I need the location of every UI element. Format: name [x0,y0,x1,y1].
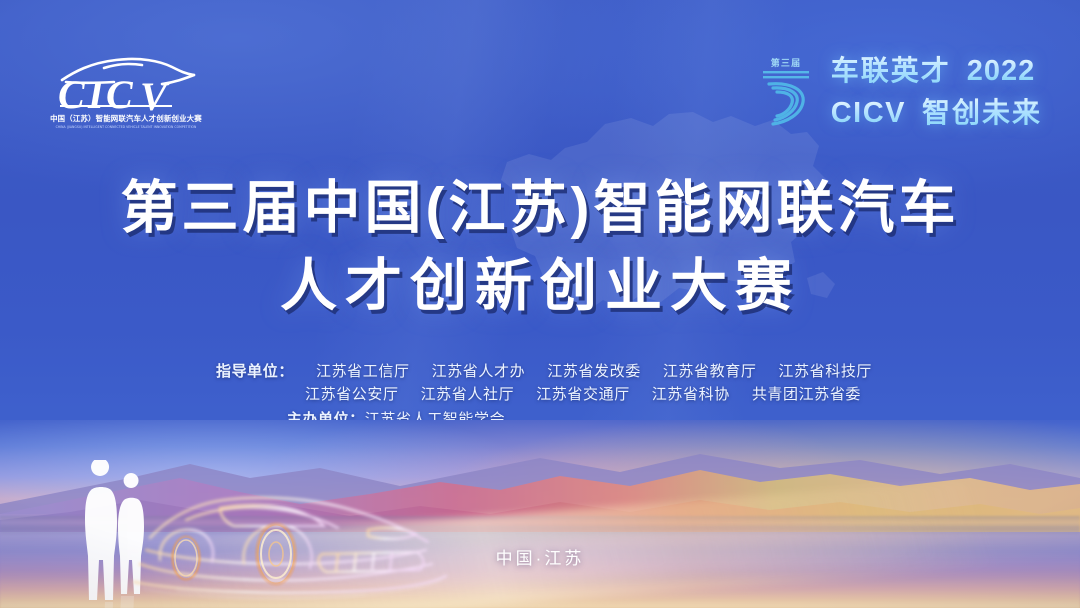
logo-subtitle-en: CHINA (JIANGSU) INTELLIGENT CONNECTED VE… [56,125,197,129]
logo-subtitle-cn: 中国（江苏）智能网联汽车人才创新创业大赛 [50,114,202,123]
svg-text:中国（江苏）智能网联汽车人才创新创业大赛: 中国（江苏）智能网联汽车人才创新创业大赛 [50,114,202,123]
guidance-unit: 江苏省交通厅 [536,383,630,406]
badge-row-2: CICV 智创未来 [831,91,1042,131]
svg-text:V: V [140,74,170,119]
guidance-unit: 江苏省工信厅 [316,360,410,383]
svg-text:C: C [106,72,136,117]
adult-silhouette [85,460,117,600]
guidance-label: 指导单位： [216,363,294,380]
badge-numeral-mark: 第三届 [755,50,817,130]
neon-car-outline [116,472,456,604]
event-badge: 第三届 车联英才 2022 CICV 智创未来 [755,48,1042,132]
guidance-row-2: 江苏省公安厅江苏省人社厅江苏省交通厅江苏省科协共青团江苏省委 [0,383,1080,406]
location-label: 中国·江苏 [0,544,1080,569]
guidance-unit: 江苏省人社厅 [421,383,515,406]
sunset-landscape [0,420,1080,608]
guidance-unit: 江苏省人才办 [432,360,526,383]
guidance-unit: 共青团江苏省委 [752,383,861,406]
guidance-unit: 江苏省公安厅 [305,383,399,406]
badge-row-1: 车联英才 2022 [831,49,1042,89]
page-title: 第三届中国(江苏)智能网联汽车 人才创新创业大赛 [0,176,1080,319]
logo-wordmark: C I C V [58,72,170,119]
guidance-row-1: 指导单位：江苏省工信厅江苏省人才办江苏省发改委江苏省教育厅江苏省科技厅 [0,360,1080,383]
guidance-unit: 江苏省科技厅 [778,360,872,383]
badge-text-block: 车联英才 2022 CICV 智创未来 [831,49,1042,131]
guidance-unit: 江苏省科协 [652,383,730,406]
guidance-unit: 江苏省发改委 [547,360,641,383]
badge-edition-glyph: 第三届 [770,57,801,69]
badge-year: 2022 [967,55,1036,88]
badge-line2-cn: 智创未来 [922,91,1042,131]
badge-line1-cn: 车联英才 [831,49,951,89]
poster-canvas: C I C V 中国（江苏）智能网联汽车人才创新创业大赛 CHINA (JIAN… [0,0,1080,608]
title-line-2: 人才创新创业大赛 [0,254,1080,320]
guidance-unit: 江苏省教育厅 [663,360,757,383]
cicv-logo[interactable]: C I C V 中国（江苏）智能网联汽车人才创新创业大赛 CHINA (JIAN… [44,52,209,130]
svg-text:I: I [87,72,107,117]
svg-text:CHINA (JIANGSU) INTELLIGENT CO: CHINA (JIANGSU) INTELLIGENT CONNECTED VE… [56,125,197,129]
title-line-1: 第三届中国(江苏)智能网联汽车 [0,176,1080,242]
badge-line2-en: CICV [831,97,906,130]
svg-text:C: C [58,72,88,117]
